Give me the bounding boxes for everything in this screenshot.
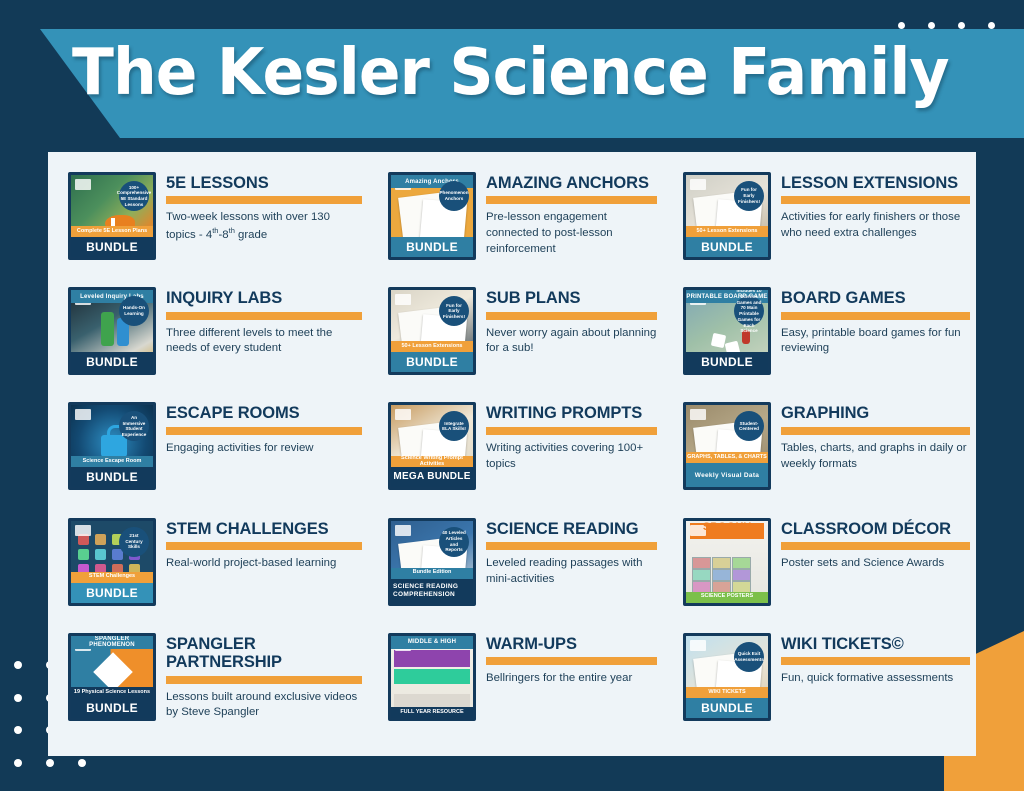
thumbnail-strip-label: FULL YEAR RESOURCE	[391, 707, 473, 718]
thumbnail-top-label: MIDDLE & HIGH	[391, 636, 473, 649]
thumbnail-bundle-label: BUNDLE	[686, 237, 768, 257]
thumbnail-bundle-label: BUNDLE	[686, 698, 768, 718]
product-thumbnail[interactable]: 21st Century SkillsBUNDLESTEM Challenges	[68, 518, 156, 606]
product-thumbnail[interactable]: Fun for Early Finishers!BUNDLE50+ Lesson…	[683, 172, 771, 260]
thumbnail-strip-label: WIKI TICKETS	[686, 687, 768, 698]
product-title: SCIENCE READING	[486, 520, 657, 538]
thumbnail-bundle-label: BUNDLE	[71, 467, 153, 487]
accent-rule	[781, 657, 970, 665]
accent-rule	[781, 196, 970, 204]
thumbnail-badge: Quick Exit Assessments	[734, 642, 764, 672]
product-thumbnail[interactable]: Leveled Inquiry LabsHands-On LearningBUN…	[68, 287, 156, 375]
kesler-science-logo-icon	[75, 525, 91, 536]
accent-rule	[486, 427, 657, 435]
product-title: GRAPHING	[781, 404, 970, 422]
product-item[interactable]: Fun for Early Finishers!BUNDLE50+ Lesson…	[368, 285, 663, 400]
product-thumbnail[interactable]: PRINTABLE BOARD GAMEIncludes 10 Science …	[683, 287, 771, 375]
thumbnail-badge: Phenomenon Anchors	[439, 181, 469, 211]
product-description: Fun, quick formative assessments	[781, 671, 970, 687]
thumbnail-strip-label: Bundle Edition	[391, 568, 473, 579]
product-thumbnail[interactable]: Amazing AnchorsPhenomenon AnchorsBUNDLE	[388, 172, 476, 260]
product-item[interactable]: 40 Leveled Articles and ReportsSCIENCE R…	[368, 516, 663, 631]
product-description: Two-week lessons with over 130 topics - …	[166, 210, 362, 243]
product-thumbnail[interactable]: MIDDLE & HIGHFULL YEAR RESOURCE	[388, 633, 476, 721]
product-item[interactable]: SPOOKYSCIENCE POSTERSCLASSROOM DÉCORPost…	[663, 516, 976, 631]
product-description: Writing activities covering 100+ topics	[486, 441, 657, 472]
product-thumbnail[interactable]: 100+ Comprehensive 5E Standard LessonsBU…	[68, 172, 156, 260]
dot	[928, 22, 935, 29]
product-thumbnail[interactable]: 40 Leveled Articles and ReportsSCIENCE R…	[388, 518, 476, 606]
kesler-science-logo-icon	[690, 640, 706, 651]
thumbnail-badge: 21st Century Skills	[119, 527, 149, 557]
thumbnail-strip-label: Science Writing Prompt Activities	[391, 456, 473, 467]
product-title: CLASSROOM DÉCOR	[781, 520, 970, 538]
thumbnail-top-label: SPANGLER PHENOMENON	[71, 636, 153, 649]
product-text: SPANGLER PARTNERSHIPLessons built around…	[166, 633, 362, 721]
accent-rule	[166, 312, 362, 320]
product-thumbnail[interactable]: Quick Exit AssessmentsBUNDLEWIKI TICKETS	[683, 633, 771, 721]
kesler-science-logo-icon	[395, 525, 411, 536]
product-item[interactable]: Leveled Inquiry LabsHands-On LearningBUN…	[48, 285, 368, 400]
thumbnail-strip-label: STEM Challenges	[71, 572, 153, 583]
product-title: AMAZING ANCHORS	[486, 174, 657, 192]
product-text: STEM CHALLENGESReal-world project-based …	[166, 518, 362, 572]
thumbnail-bundle-label: Weekly Visual Data	[686, 463, 768, 487]
kesler-science-logo-icon	[395, 409, 411, 420]
thumbnail-badge: Fun for Early Finishers!	[439, 296, 469, 326]
dot	[14, 694, 22, 702]
kesler-science-logo-icon	[395, 294, 411, 305]
product-text: WARM-UPSBellringers for the entire year	[486, 633, 657, 687]
thumbnail-bundle-label: BUNDLE	[71, 698, 153, 718]
dot	[14, 661, 22, 669]
thumbnail-bundle-label: BUNDLE	[71, 583, 153, 603]
product-title: SUB PLANS	[486, 289, 657, 307]
thumbnail-bundle-label: BUNDLE	[391, 237, 473, 257]
accent-rule	[166, 427, 362, 435]
kesler-science-logo-icon	[75, 409, 91, 420]
kesler-science-logo-icon	[690, 179, 706, 190]
product-text: AMAZING ANCHORSPre-lesson engagement con…	[486, 172, 657, 258]
thumbnail-bundle-label: SCIENCE READING COMPREHENSION	[391, 579, 473, 603]
product-thumbnail[interactable]: SPANGLER PHENOMENONBUNDLE19 Physical Sci…	[68, 633, 156, 721]
kesler-science-logo-icon	[690, 409, 706, 420]
product-description: Easy, printable board games for fun revi…	[781, 326, 970, 357]
product-description: Three different levels to meet the needs…	[166, 326, 362, 357]
content-card: 100+ Comprehensive 5E Standard LessonsBU…	[48, 152, 976, 756]
product-title: LESSON EXTENSIONS	[781, 174, 970, 192]
product-thumbnail[interactable]: SPOOKYSCIENCE POSTERS	[683, 518, 771, 606]
product-description: Lessons built around exclusive videos by…	[166, 690, 362, 721]
product-text: ESCAPE ROOMSEngaging activities for revi…	[166, 402, 362, 456]
product-description: Poster sets and Science Awards	[781, 556, 970, 572]
product-item[interactable]: 21st Century SkillsBUNDLESTEM Challenges…	[48, 516, 368, 631]
dot	[78, 759, 86, 767]
page-title: The Kesler Science Family	[72, 36, 949, 110]
thumbnail-bundle-label: BUNDLE	[71, 237, 153, 257]
accent-rule	[781, 427, 970, 435]
product-title: 5E LESSONS	[166, 174, 362, 192]
dot	[898, 22, 905, 29]
thumbnail-strip-label: 50+ Lesson Extensions	[686, 226, 768, 237]
product-text: BOARD GAMESEasy, printable board games f…	[781, 287, 970, 357]
product-description: Leveled reading passages with mini-activ…	[486, 556, 657, 587]
dot	[958, 22, 965, 29]
product-description: Pre-lesson engagement connected to post-…	[486, 210, 657, 257]
thumbnail-strip-label: 19 Physical Science Lessons	[71, 687, 153, 698]
product-title: INQUIRY LABS	[166, 289, 362, 307]
product-thumbnail[interactable]: An Immersive Student ExperienceBUNDLESci…	[68, 402, 156, 490]
thumbnail-strip-label: Science Escape Room	[71, 456, 153, 467]
thumbnail-strip-label: 50+ Lesson Extensions	[391, 341, 473, 352]
accent-rule	[486, 542, 657, 550]
product-title: WIKI TICKETS©	[781, 635, 970, 653]
product-text: 5E LESSONSTwo-week lessons with over 130…	[166, 172, 362, 244]
thumbnail-bundle-label: MEGA BUNDLE	[391, 467, 473, 487]
thumbnail-bundle-label: BUNDLE	[71, 352, 153, 372]
thumbnail-badge: Fun for Early Finishers!	[734, 181, 764, 211]
dot	[988, 22, 995, 29]
thumbnail-badge: Includes 10 Science Games and 70 Main Pr…	[734, 296, 764, 326]
thumbnail-strip-label: SCIENCE POSTERS	[686, 592, 768, 603]
accent-rule	[166, 676, 362, 684]
thumbnail-badge: 40 Leveled Articles and Reports	[439, 527, 469, 557]
dot	[14, 759, 22, 767]
product-title: STEM CHALLENGES	[166, 520, 362, 538]
thumbnail-strip-label: Complete 5E Lesson Plans	[71, 226, 153, 237]
product-text: SCIENCE READINGLeveled reading passages …	[486, 518, 657, 588]
product-title: BOARD GAMES	[781, 289, 970, 307]
product-title: ESCAPE ROOMS	[166, 404, 362, 422]
product-item[interactable]: Amazing AnchorsPhenomenon AnchorsBUNDLEA…	[368, 170, 663, 285]
thumbnail-badge: An Immersive Student Experience	[119, 411, 149, 441]
accent-rule	[486, 657, 657, 665]
product-text: GRAPHINGTables, charts, and graphs in da…	[781, 402, 970, 472]
product-item[interactable]: SPANGLER PHENOMENONBUNDLE19 Physical Sci…	[48, 631, 368, 746]
product-text: WRITING PROMPTSWriting activities coveri…	[486, 402, 657, 472]
dot	[46, 759, 54, 767]
product-description: Never worry again about planning for a s…	[486, 326, 657, 357]
accent-rule	[486, 312, 657, 320]
product-thumbnail[interactable]: Student-CenteredWeekly Visual DataGRAPHS…	[683, 402, 771, 490]
product-text: INQUIRY LABSThree different levels to me…	[166, 287, 362, 357]
product-text: LESSON EXTENSIONSActivities for early fi…	[781, 172, 970, 242]
thumbnail-bundle-label: BUNDLE	[686, 352, 768, 372]
product-item[interactable]: Quick Exit AssessmentsBUNDLEWIKI TICKETS…	[663, 631, 976, 746]
product-text: WIKI TICKETS©Fun, quick formative assess…	[781, 633, 970, 687]
thumbnail-strip-label: GRAPHS, TABLES, & CHARTS	[686, 452, 768, 463]
product-title: SPANGLER PARTNERSHIP	[166, 635, 362, 672]
product-item[interactable]: MIDDLE & HIGHFULL YEAR RESOURCEWARM-UPSB…	[368, 631, 663, 746]
product-item[interactable]: An Immersive Student ExperienceBUNDLESci…	[48, 400, 368, 515]
product-item[interactable]: 100+ Comprehensive 5E Standard LessonsBU…	[48, 170, 368, 285]
product-item[interactable]: Student-CenteredWeekly Visual DataGRAPHS…	[663, 400, 976, 515]
thumbnail-badge: 100+ Comprehensive 5E Standard Lessons	[119, 181, 149, 211]
product-item[interactable]: Fun for Early Finishers!BUNDLE50+ Lesson…	[663, 170, 976, 285]
product-description: Bellringers for the entire year	[486, 671, 657, 687]
accent-rule	[486, 196, 657, 204]
accent-rule	[781, 542, 970, 550]
product-description: Tables, charts, and graphs in daily or w…	[781, 441, 970, 472]
product-description: Activities for early finishers or those …	[781, 210, 970, 241]
accent-rule	[166, 196, 362, 204]
product-item[interactable]: Integrate ELA Skills!MEGA BUNDLEScience …	[368, 400, 663, 515]
thumbnail-badge: Hands-On Learning	[119, 296, 149, 326]
product-thumbnail[interactable]: Integrate ELA Skills!MEGA BUNDLEScience …	[388, 402, 476, 490]
product-title: WARM-UPS	[486, 635, 657, 653]
product-title: WRITING PROMPTS	[486, 404, 657, 422]
product-text: SUB PLANSNever worry again about plannin…	[486, 287, 657, 357]
accent-rule	[166, 542, 362, 550]
product-item[interactable]: PRINTABLE BOARD GAMEIncludes 10 Science …	[663, 285, 976, 400]
thumbnail-bundle-label: BUNDLE	[391, 352, 473, 372]
dot	[14, 726, 22, 734]
kesler-science-logo-icon	[75, 179, 91, 190]
product-description: Engaging activities for review	[166, 441, 362, 457]
product-grid: 100+ Comprehensive 5E Standard LessonsBU…	[48, 152, 976, 756]
thumbnail-top-label: SPOOKY	[686, 521, 768, 534]
product-text: CLASSROOM DÉCORPoster sets and Science A…	[781, 518, 970, 572]
product-thumbnail[interactable]: Fun for Early Finishers!BUNDLE50+ Lesson…	[388, 287, 476, 375]
product-description: Real-world project-based learning	[166, 556, 362, 572]
accent-rule	[781, 312, 970, 320]
